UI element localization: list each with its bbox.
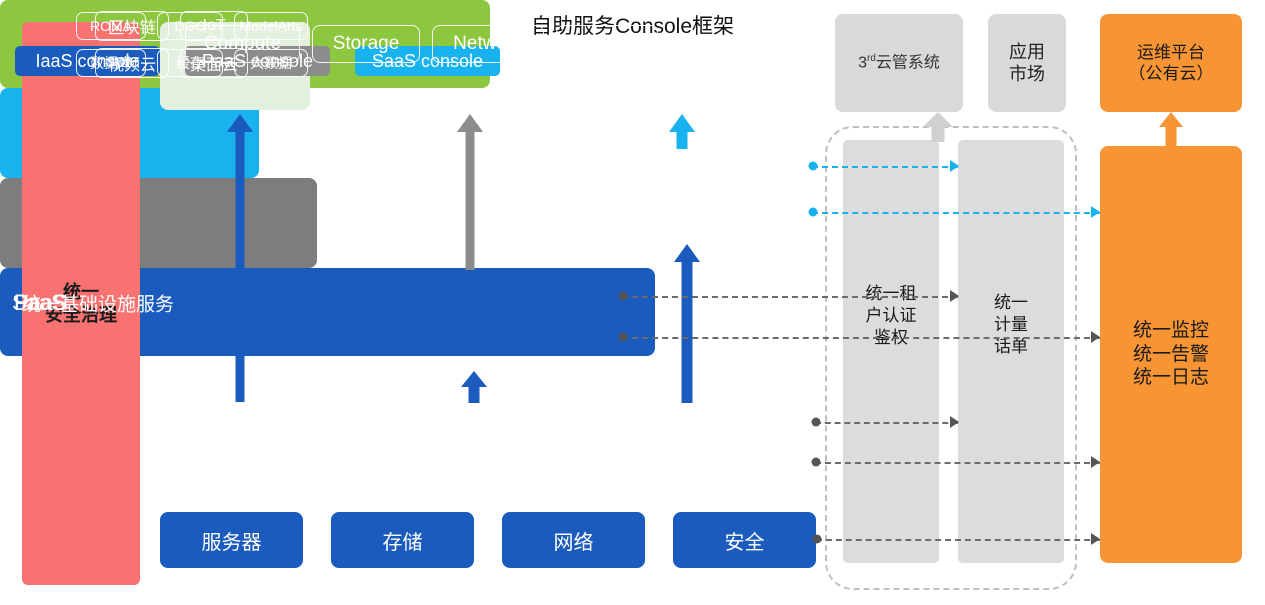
third-party-suffix: 云管系统	[876, 54, 940, 71]
dashed-iaas-to-ops	[815, 462, 1100, 464]
iaas-service-cce[interactable]: CCE	[556, 25, 658, 63]
arrowhead-resources-ops	[1091, 533, 1100, 545]
ops-monitoring-panel[interactable]: 统一监控 统一告警 统一日志	[1100, 146, 1242, 563]
architecture-diagram: 统一 安全治理 API网关 自助服务Console框架 IaaS console…	[0, 0, 1265, 605]
resource-server-label: 服务器	[202, 526, 262, 555]
iaas-service-compute-label: Compute	[204, 33, 281, 55]
paas-service-database-label: 数据库	[90, 53, 132, 73]
arrow-iaas-to-paas	[460, 371, 488, 403]
third-party-prefix: 3	[858, 54, 867, 71]
ops-platform-label: 运维平台 （公有云）	[1129, 42, 1214, 85]
ops-platform-line1: 运维平台	[1129, 42, 1214, 63]
arrowhead-saas-ops	[1091, 206, 1100, 218]
unified-billing-line3: 话单	[958, 336, 1064, 358]
app-market-line1: 应用	[1009, 41, 1045, 64]
resource-security-label: 安全	[725, 526, 765, 555]
iaas-layer-label: 统一基础设施服务	[22, 289, 174, 316]
dot-iaas-auth	[812, 418, 821, 427]
paas-service-roma[interactable]: ROMA	[76, 12, 146, 40]
iaas-service-cce-label: CCE	[587, 33, 627, 55]
resource-network[interactable]: 网络	[502, 512, 645, 568]
unified-billing-label: 统一 计量 话单	[958, 292, 1064, 358]
app-market-label: 应用 市场	[1009, 41, 1045, 86]
iaas-service-storage[interactable]: Storage	[312, 25, 420, 63]
dot-paas-ops	[619, 333, 628, 342]
unified-auth-column[interactable]	[843, 140, 939, 563]
app-market-box[interactable]: 应用 市场	[988, 14, 1066, 112]
dashed-paas-to-ops	[622, 337, 1100, 339]
third-party-label: 3rd云管系统	[858, 53, 940, 73]
dot-iaas-ops	[812, 458, 821, 467]
ops-platform-line2: （公有云）	[1129, 63, 1214, 84]
arrow-saas-to-console	[668, 114, 696, 149]
dashed-iaas-to-auth	[815, 422, 958, 424]
iaas-service-network[interactable]: Network	[432, 25, 544, 63]
arrowhead-paas-ops	[1091, 331, 1100, 343]
unified-billing-line1: 统一	[958, 292, 1064, 314]
unified-billing-line2: 计量	[958, 314, 1064, 336]
iaas-service-network-label: Network	[453, 33, 523, 55]
arrow-iaas-to-api-gateway	[226, 114, 254, 402]
dashed-saas-to-auth	[812, 166, 958, 168]
arrow-billing-to-ops-platform	[1157, 112, 1185, 146]
resource-server[interactable]: 服务器	[160, 512, 303, 568]
ops-panel-label: 统一监控 统一告警 统一日志	[1133, 319, 1209, 390]
dot-resources-ops	[813, 535, 822, 544]
arrowhead-iaas-ops	[1091, 456, 1100, 468]
ops-panel-line1: 统一监控	[1133, 319, 1209, 343]
dot-saas-auth	[809, 162, 818, 171]
third-party-cloud-management-box[interactable]: 3rd云管系统	[835, 14, 963, 112]
resource-storage[interactable]: 存储	[331, 512, 474, 568]
arrowhead-saas-auth	[950, 160, 959, 172]
paas-service-database[interactable]: 数据库	[76, 49, 146, 77]
ops-panel-line3: 统一日志	[1133, 366, 1209, 390]
unified-auth-line2: 户认证	[843, 305, 939, 327]
ops-platform-box[interactable]: 运维平台 （公有云）	[1100, 14, 1242, 112]
arrowhead-paas-auth	[950, 290, 959, 302]
arrowhead-iaas-auth	[950, 416, 959, 428]
iaas-service-compute[interactable]: Compute	[185, 25, 300, 63]
unified-auth-label: 统一租 户认证 鉴权	[843, 283, 939, 349]
arrow-iaas-to-saas	[673, 244, 701, 403]
dot-saas-ops	[809, 208, 818, 217]
iaas-service-storage-label: Storage	[333, 33, 400, 55]
resource-security[interactable]: 安全	[673, 512, 816, 568]
dashed-saas-to-ops	[812, 212, 1100, 214]
arrow-auth-to-third-party	[923, 112, 953, 142]
third-party-superscript: rd	[867, 53, 876, 64]
arrow-paas-to-console	[456, 114, 484, 270]
resource-network-label: 网络	[554, 526, 594, 555]
paas-service-roma-label: ROMA	[90, 18, 132, 34]
resource-storage-label: 存储	[383, 526, 423, 555]
unified-auth-line1: 统一租	[843, 283, 939, 305]
app-market-line2: 市场	[1009, 63, 1045, 86]
dashed-resources-to-ops	[816, 539, 1100, 541]
dot-paas-auth	[619, 292, 628, 301]
ops-panel-line2: 统一告警	[1133, 343, 1209, 367]
dashed-paas-to-auth	[622, 296, 958, 298]
